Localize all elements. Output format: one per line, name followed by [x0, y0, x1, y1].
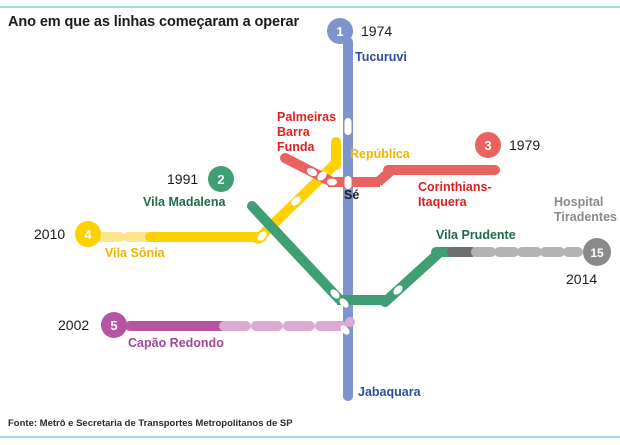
infographic-canvas: Ano em que as linhas começaram a operar … [0, 0, 620, 445]
station-republica: República [350, 147, 411, 161]
station-palmeiras-barra-funda-line2: Barra [277, 125, 311, 139]
metro-network-diagram: 1 1974 Tucuruvi Jabaquara 3 1979 Palmeir… [0, 0, 620, 445]
line-1-year: 1974 [361, 23, 392, 39]
line-15-year: 2014 [566, 271, 597, 287]
line-4-number: 4 [84, 227, 92, 242]
line-5-year: 2002 [58, 317, 89, 333]
line-15-number: 15 [590, 246, 604, 260]
station-hospital-tiradentes-line1: Hospital [554, 195, 603, 209]
station-palmeiras-barra-funda-line1: Palmeiras [277, 110, 336, 124]
station-se: Sé [344, 188, 359, 202]
station-vila-prudente: Vila Prudente [436, 228, 516, 242]
line-3-year: 1979 [509, 137, 540, 153]
station-palmeiras-barra-funda-line3: Funda [277, 140, 316, 154]
station-corinthians-itaquera-line2: Itaquera [418, 195, 468, 209]
line-15-badge[interactable]: 15 [583, 238, 611, 266]
station-vila-sonia: Vila Sônia [105, 246, 166, 260]
line-3-badge[interactable]: 3 [475, 132, 501, 158]
line-2-year: 1991 [167, 171, 198, 187]
line-1-badge[interactable]: 1 [327, 18, 353, 44]
station-hospital-tiradentes-line2: Tiradentes [554, 210, 617, 224]
line-4-year: 2010 [34, 226, 65, 242]
line-2-number: 2 [217, 172, 224, 187]
line-5-number: 5 [110, 318, 117, 333]
line-3-track[interactable] [285, 158, 495, 182]
station-vila-madalena: Vila Madalena [143, 195, 226, 209]
line-1-number: 1 [336, 24, 343, 39]
line-3-number: 3 [484, 138, 491, 153]
line-5-badge[interactable]: 5 [101, 312, 127, 338]
station-capao-redondo: Capão Redondo [128, 336, 224, 350]
station-jabaquara: Jabaquara [358, 385, 422, 399]
line-2-badge[interactable]: 2 [208, 166, 234, 192]
line-4-badge[interactable]: 4 [75, 221, 101, 247]
station-tucuruvi: Tucuruvi [355, 50, 407, 64]
station-corinthians-itaquera-line1: Corinthians- [418, 180, 492, 194]
